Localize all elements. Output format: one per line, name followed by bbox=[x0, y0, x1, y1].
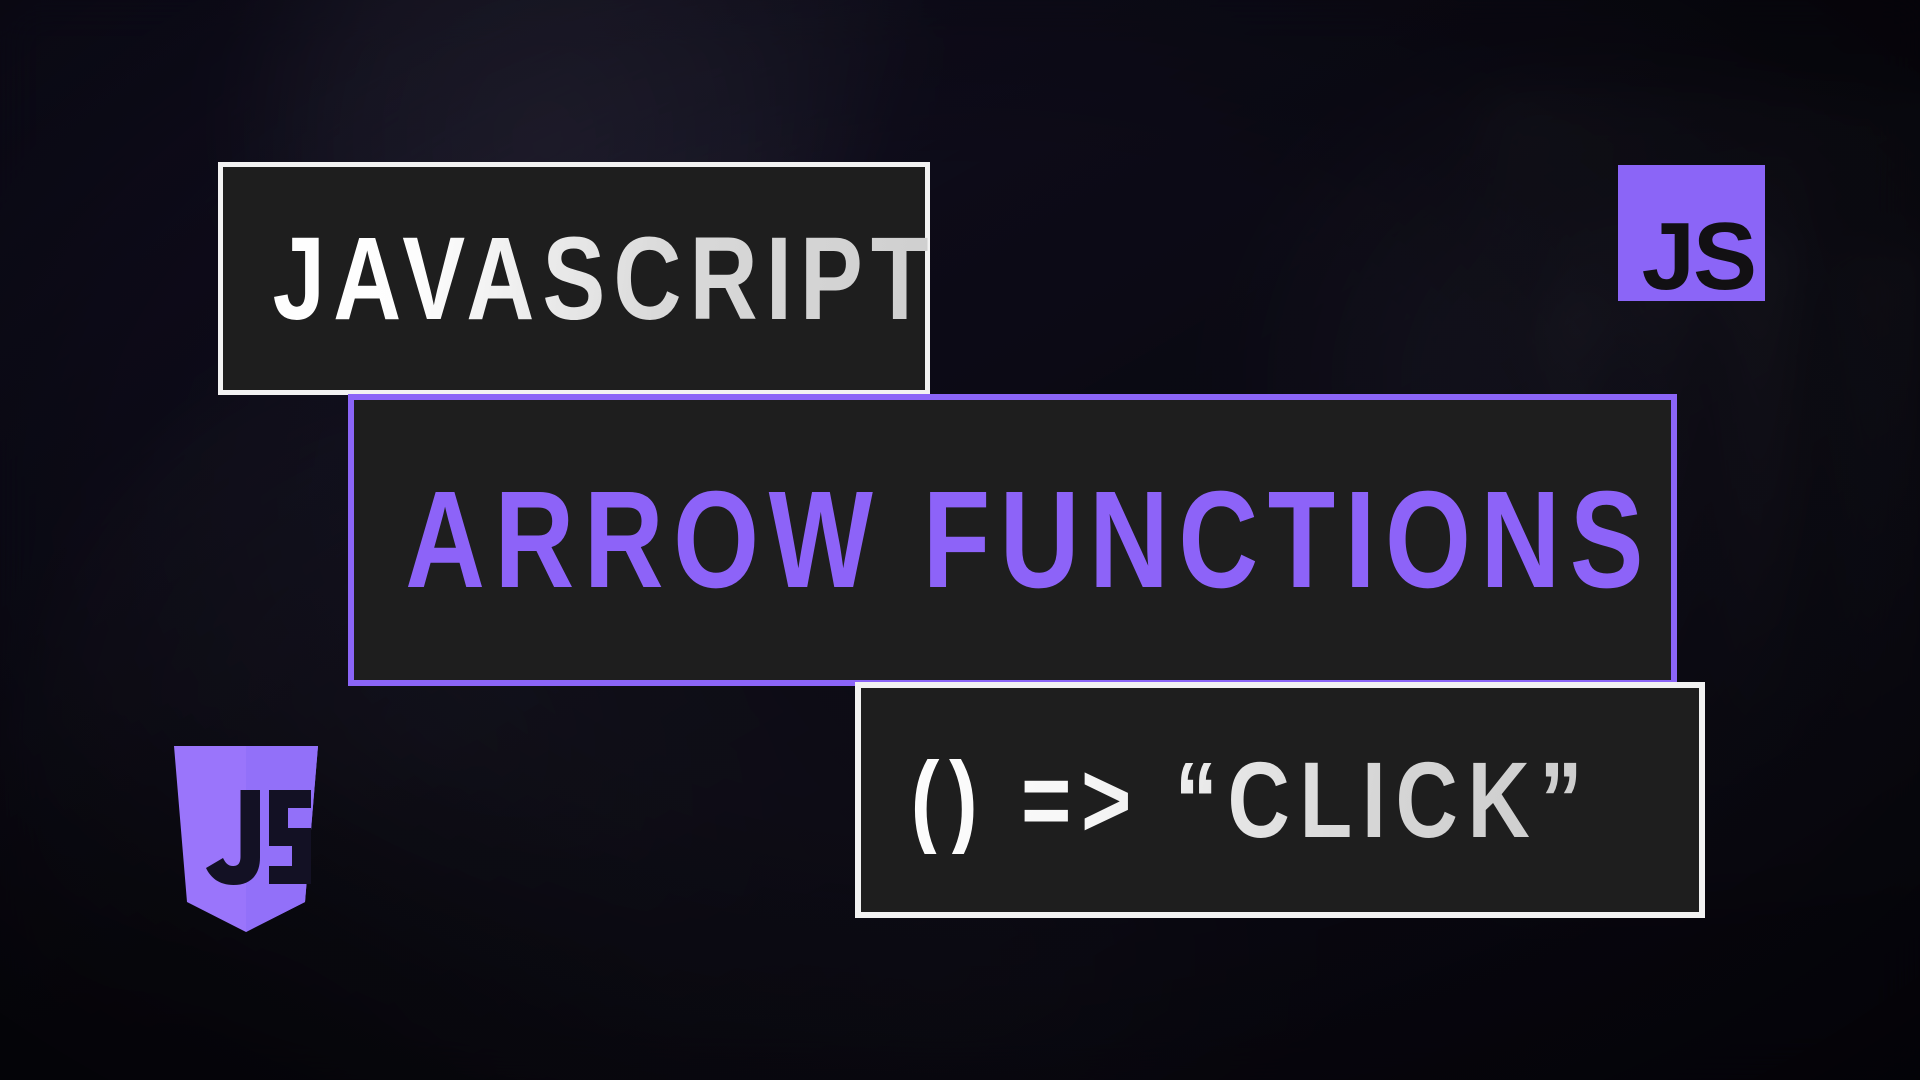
topic-card: ARROW FUNCTIONS bbox=[348, 394, 1677, 686]
language-card-title: JAVASCRIPT bbox=[223, 220, 937, 338]
code-snippet-text: () => “CLICK” bbox=[861, 746, 1592, 854]
thumbnail-stage: JAVASCRIPT ARROW FUNCTIONS () => “CLICK”… bbox=[0, 0, 1920, 1080]
language-card: JAVASCRIPT bbox=[218, 162, 930, 395]
topic-card-title: ARROW FUNCTIONS bbox=[354, 471, 1653, 609]
code-snippet-card: () => “CLICK” bbox=[855, 682, 1705, 918]
javascript-shield-logo-icon bbox=[168, 746, 324, 932]
javascript-square-logo-icon: JS bbox=[1618, 165, 1765, 301]
javascript-square-logo-label: JS bbox=[1642, 209, 1755, 305]
